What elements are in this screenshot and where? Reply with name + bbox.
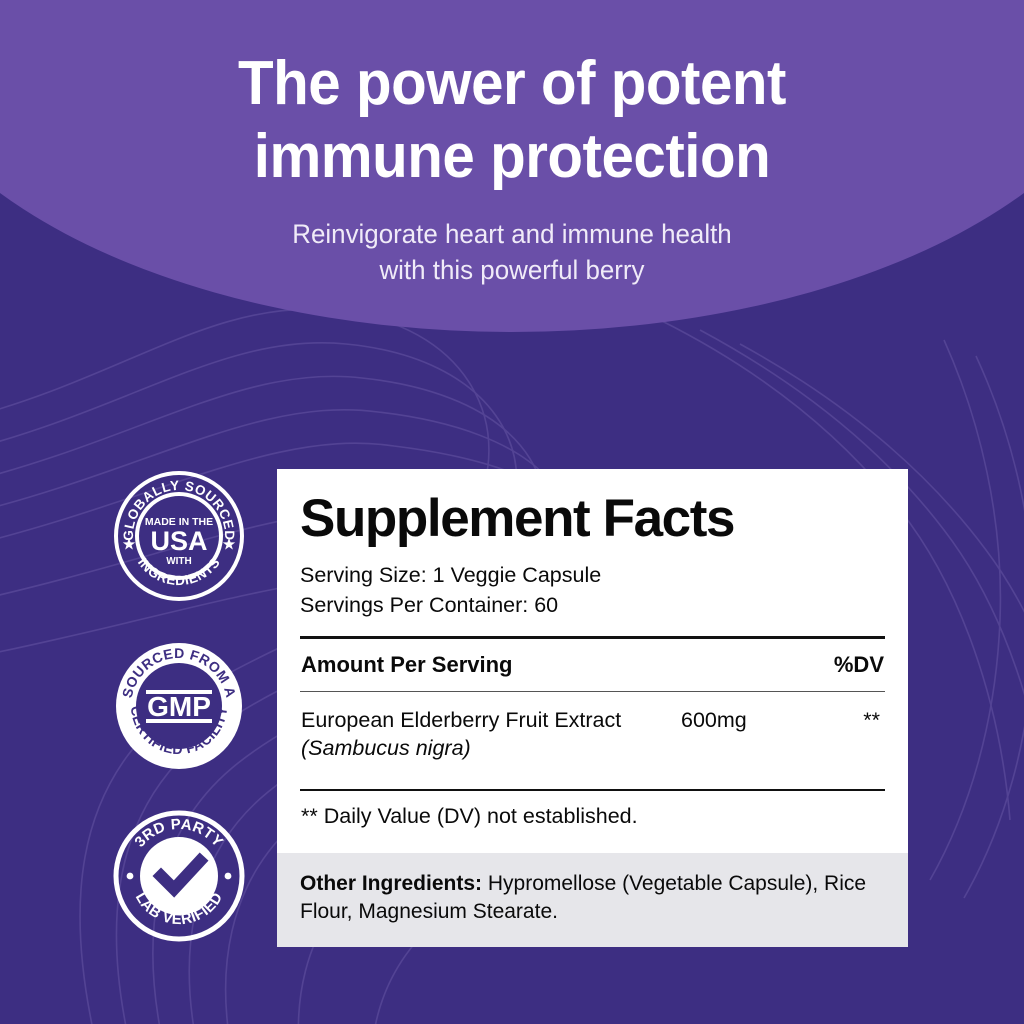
headline-line-2: immune protection (31, 121, 994, 194)
certification-badges: GLOBALLY SOURCED INGREDIENTS MADE IN THE… (113, 470, 245, 980)
dot-left (127, 873, 134, 880)
third-party-lab-verified-badge: 3RD PARTY LAB VERIFIED (113, 810, 245, 942)
ingredient-amount-cell: 600mg (681, 707, 811, 735)
headline-line-1: The power of potent (31, 48, 994, 121)
ingredient-latin-name: (Sambucus nigra) (301, 735, 681, 763)
daily-value-footnote: ** Daily Value (DV) not established. (300, 791, 885, 835)
percent-dv-label: %DV (834, 652, 884, 678)
ingredient-dv-cell: ** (811, 707, 884, 735)
badge-center-line-1: GMP (147, 691, 211, 722)
other-ingredients-section: Other Ingredients: Hypromellose (Vegetab… (277, 853, 908, 947)
promo-image-root: The power of potent immune protection Re… (0, 0, 1024, 1024)
subhead-line-1: Reinvigorate heart and immune health (20, 217, 1003, 253)
dot-right (225, 873, 232, 880)
serving-size-text: Serving Size: 1 Veggie Capsule (300, 562, 885, 590)
servings-per-container-text: Servings Per Container: 60 (300, 592, 885, 620)
ingredient-name-cell: European Elderberry Fruit Extract (Sambu… (301, 707, 681, 763)
badge-center-line-2: USA (150, 526, 207, 556)
badge-center-line-3: WITH (166, 556, 192, 567)
other-ingredients-label: Other Ingredients: (300, 872, 482, 895)
table-row: European Elderberry Fruit Extract (Sambu… (300, 692, 885, 763)
gmp-certified-badge: SOURCED FROM A CERTIFIED FACILITY GMP (113, 640, 245, 772)
made-in-usa-badge: GLOBALLY SOURCED INGREDIENTS MADE IN THE… (113, 470, 245, 602)
ingredient-row-spacer (300, 763, 885, 789)
amount-per-serving-label: Amount Per Serving (301, 652, 512, 678)
supplement-facts-main: Supplement Facts Serving Size: 1 Veggie … (277, 469, 908, 853)
supplement-facts-title: Supplement Facts (300, 491, 885, 546)
amount-per-serving-header-row: Amount Per Serving %DV (300, 639, 885, 691)
supplement-facts-panel: Supplement Facts Serving Size: 1 Veggie … (277, 469, 908, 947)
page-title: The power of potent immune protection (31, 48, 994, 193)
header-text-block: The power of potent immune protection Re… (0, 0, 1024, 289)
ingredient-common-name: European Elderberry Fruit Extract (301, 708, 621, 732)
page-subtitle: Reinvigorate heart and immune health wit… (20, 217, 1003, 289)
subhead-line-2: with this powerful berry (20, 253, 1003, 289)
